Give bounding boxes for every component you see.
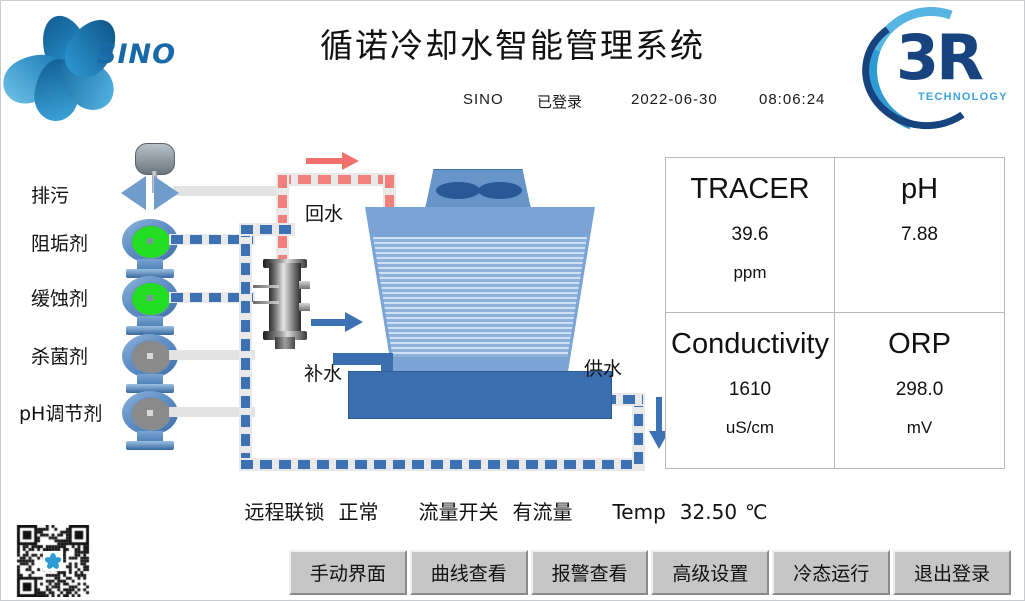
flow-switch-value: 有流量 (512, 496, 572, 525)
makeup-flow-arrow-shaft (311, 319, 347, 326)
analyzer-nozzle (299, 303, 310, 311)
temperature-unit: ℃ (745, 500, 767, 524)
measurement-value: 1610 (729, 379, 771, 401)
circulation-pipe-left (241, 225, 250, 469)
system-time: 08:06:24 (759, 91, 825, 108)
pump-corrosion-inhibitor[interactable] (122, 276, 178, 338)
circulation-pipe-top (241, 225, 293, 234)
measurement-unit: mV (907, 418, 933, 438)
measurement-unit: ppm (733, 263, 766, 283)
device-label-antiscalant: 阻垢剂 (31, 229, 88, 256)
measurement-name: TRACER (690, 174, 809, 206)
cooling-tower-fill-media (365, 237, 595, 357)
label-return-water: 回水 (301, 198, 347, 227)
pump-ph-adjuster[interactable] (122, 391, 178, 453)
analyzer-nozzle (299, 281, 310, 289)
water-analyzer-column[interactable] (263, 253, 307, 351)
supply-flow-arrow-shaft (656, 397, 662, 433)
status-bar: 远程联锁 正常 流量开关 有流量 Temp 32.50 ℃ (1, 496, 1011, 525)
device-label-corrosion-inhibitor: 缓蚀剂 (31, 284, 88, 311)
qr-code[interactable] (7, 525, 99, 597)
measurement-value: 7.88 (901, 224, 938, 246)
measurement-tile-ph[interactable]: pH 7.88 (835, 158, 1004, 313)
measurement-name: Conductivity (671, 329, 829, 361)
page-title: 循诺冷却水智能管理系统 (1, 19, 1024, 67)
temperature-label: Temp (612, 500, 665, 524)
analyzer-body (269, 263, 301, 335)
analyzer-foot (275, 337, 295, 349)
advanced-settings-button[interactable]: 高级设置 (651, 550, 769, 595)
return-flow-arrow-head (342, 152, 359, 170)
measurement-value: 298.0 (896, 379, 944, 401)
measurement-unit: uS/cm (726, 418, 774, 438)
analyzer-probe (253, 285, 279, 288)
cooling-tower-basin (348, 371, 612, 419)
circulation-pipe-bottom (241, 460, 643, 469)
device-label-ph-adjuster: pH调节剂 (19, 399, 102, 426)
flow-switch-label: 流量开关 (418, 496, 498, 525)
makeup-flow-arrow-head (345, 312, 363, 332)
label-makeup-water: 补水 (304, 359, 342, 386)
cold-start-button[interactable]: 冷态运行 (772, 550, 890, 595)
cooling-tower-fan-blade (436, 182, 480, 199)
analyzer-probe (253, 301, 279, 304)
measurement-tile-conductivity[interactable]: Conductivity 1610 uS/cm (666, 313, 835, 468)
system-date: 2022-06-30 (631, 91, 718, 108)
measurement-tile-orp[interactable]: ORP 298.0 mV (835, 313, 1004, 468)
pump-base (126, 441, 174, 450)
cooling-tower-fan-blade (478, 182, 522, 199)
remote-interlock-value: 正常 (338, 496, 378, 525)
remote-interlock-label: 远程联锁 (244, 496, 324, 525)
manual-interface-button[interactable]: 手动界面 (289, 550, 407, 595)
3r-logo-subtitle: TECHNOLOGY (918, 91, 1008, 103)
pump-center-dot (147, 295, 153, 301)
current-user: SINO (463, 91, 504, 108)
qr-center-logo (43, 551, 63, 571)
trend-curve-button[interactable]: 曲线查看 (410, 550, 528, 595)
blowdown-valve[interactable] (121, 143, 191, 201)
logout-button[interactable]: 退出登录 (893, 550, 1011, 595)
return-water-pipe-top (278, 175, 394, 184)
measurement-panel: TRACER 39.6 ppm pH 7.88 Conductivity 161… (665, 157, 1005, 469)
measurement-value: 39.6 (732, 224, 769, 246)
measurement-name: ORP (888, 329, 951, 361)
bottom-toolbar: 手动界面 曲线查看 报警查看 高级设置 冷态运行 退出登录 (289, 550, 1011, 595)
label-supply-water: 供水 (584, 354, 622, 381)
valve-body-left (121, 176, 146, 210)
pump-center-dot (147, 238, 153, 244)
temperature-value: 32.50 (680, 500, 737, 524)
login-status: 已登录 (537, 91, 582, 112)
measurement-name: pH (901, 174, 938, 206)
device-label-biocide: 杀菌剂 (31, 342, 88, 369)
pump-biocide[interactable] (122, 334, 178, 396)
alarm-view-button[interactable]: 报警查看 (531, 550, 649, 595)
circulation-pipe-right (634, 395, 643, 469)
pump-antiscalant[interactable] (122, 219, 178, 281)
measurement-tile-tracer[interactable]: TRACER 39.6 ppm (666, 158, 835, 313)
valve-body-right (154, 176, 179, 210)
pump-center-dot (147, 410, 153, 416)
pump-center-dot (147, 353, 153, 359)
return-flow-arrow-shaft (306, 158, 344, 164)
hmi-screen: SINO 3R TECHNOLOGY 循诺冷却水智能管理系统 SINO 已登录 … (1, 1, 1024, 600)
cooling-tower-fan-housing (425, 169, 531, 209)
device-label-blowdown: 排污 (31, 181, 69, 208)
